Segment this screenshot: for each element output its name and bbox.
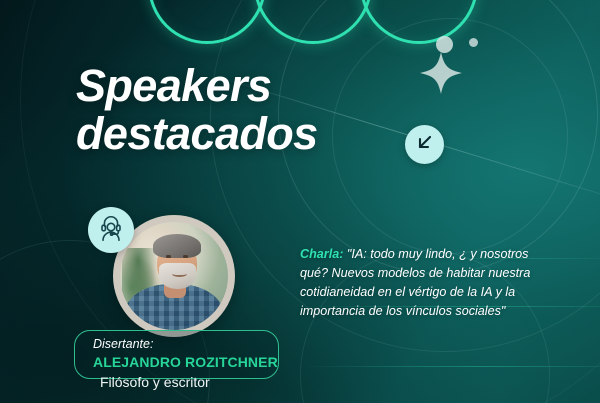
sparkle-dot-small bbox=[469, 38, 478, 47]
heading-line-2: destacados bbox=[76, 110, 318, 158]
icon-circle-globe bbox=[148, 0, 266, 44]
scroll-down-arrow-badge[interactable] bbox=[405, 125, 444, 164]
photo-eye-right bbox=[183, 255, 188, 258]
speaker-role-label: Disertante: bbox=[93, 337, 266, 353]
heading-line-1: Speakers bbox=[76, 60, 271, 111]
speaker-avatar-badge bbox=[88, 207, 134, 253]
network-nodes-icon bbox=[291, 0, 335, 41]
speaker-occupation: Filósofo y escritor bbox=[100, 374, 210, 390]
photo-hair bbox=[153, 234, 201, 258]
top-icon-circle-group bbox=[148, 0, 466, 44]
icon-circle-network bbox=[254, 0, 372, 44]
photo-smile bbox=[172, 271, 187, 277]
speaker-name: ALEJANDRO ROZITCHNER bbox=[93, 353, 266, 371]
headset-person-icon bbox=[96, 213, 126, 248]
speakers-poster: Speakers destacados bbox=[0, 0, 600, 403]
talk-description: Charla: "IA: todo muy lindo, ¿ y nosotro… bbox=[300, 245, 555, 322]
speaker-photo bbox=[120, 222, 228, 330]
globe-icon bbox=[187, 0, 227, 41]
fingerprint-circuit-icon bbox=[397, 0, 441, 41]
accent-line bbox=[300, 366, 600, 367]
photo-eye-left bbox=[166, 255, 171, 258]
speaker-photo-wrapper bbox=[113, 215, 235, 337]
arrow-down-left-icon bbox=[414, 132, 435, 158]
icon-circle-fingerprint bbox=[360, 0, 478, 44]
poster-heading: Speakers destacados bbox=[76, 62, 318, 158]
speaker-name-box: Disertante: ALEJANDRO ROZITCHNER bbox=[74, 330, 279, 379]
talk-label: Charla: bbox=[300, 247, 343, 261]
